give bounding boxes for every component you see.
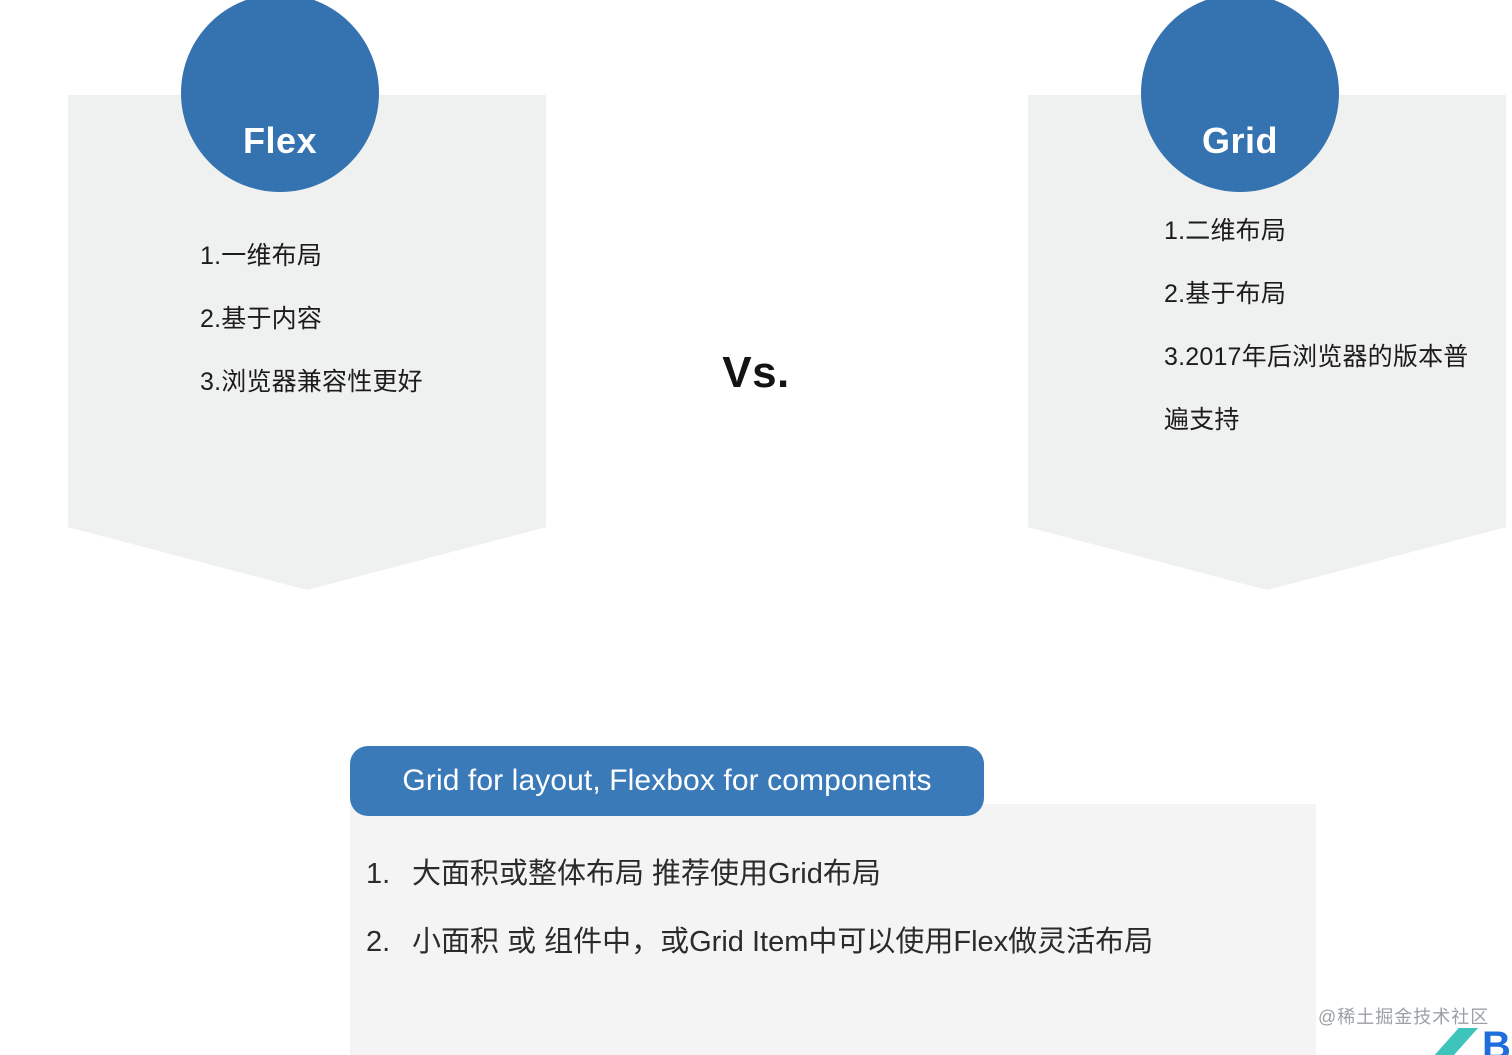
logo-letter: B — [1482, 1028, 1511, 1055]
grid-panel-list: 1.二维布局 2.基于布局 3.2017年后浏览器的版本普遍支持 — [1028, 200, 1506, 452]
list-item: 2. 小面积 或 组件中，或Grid Item中可以使用Flex做灵活布局 — [366, 923, 1306, 961]
grid-badge-circle: Grid — [1141, 0, 1339, 192]
versus-label: Vs. — [0, 348, 1512, 398]
list-item: 1.一维布局 — [200, 225, 508, 288]
list-item-text: 大面积或整体布局 推荐使用Grid布局 — [412, 855, 881, 893]
slide-canvas: 1.一维布局 2.基于内容 3.浏览器兼容性更好 Flex 1.二维布局 2.基… — [0, 0, 1512, 1055]
summary-list: 1. 大面积或整体布局 推荐使用Grid布局 2. 小面积 或 组件中，或Gri… — [366, 855, 1306, 991]
list-item-index: 2. — [366, 923, 412, 961]
summary-pill: Grid for layout, Flexbox for components — [350, 746, 984, 816]
list-item: 2.基于内容 — [200, 288, 508, 351]
flex-badge-circle: Flex — [181, 0, 379, 192]
list-item-text: 小面积 或 组件中，或Grid Item中可以使用Flex做灵活布局 — [412, 923, 1153, 961]
list-item: 1.二维布局 — [1164, 200, 1478, 263]
list-item-index: 1. — [366, 855, 412, 893]
flex-badge-label: Flex — [243, 120, 317, 162]
corner-logo: B — [1432, 1028, 1512, 1055]
logo-mark-icon — [1432, 1028, 1478, 1055]
watermark-text: @稀土掘金技术社区 — [1318, 1003, 1489, 1029]
list-item: 1. 大面积或整体布局 推荐使用Grid布局 — [366, 855, 1306, 893]
list-item: 2.基于布局 — [1164, 263, 1478, 326]
grid-badge-label: Grid — [1202, 120, 1278, 162]
summary-pill-label: Grid for layout, Flexbox for components — [402, 764, 931, 798]
